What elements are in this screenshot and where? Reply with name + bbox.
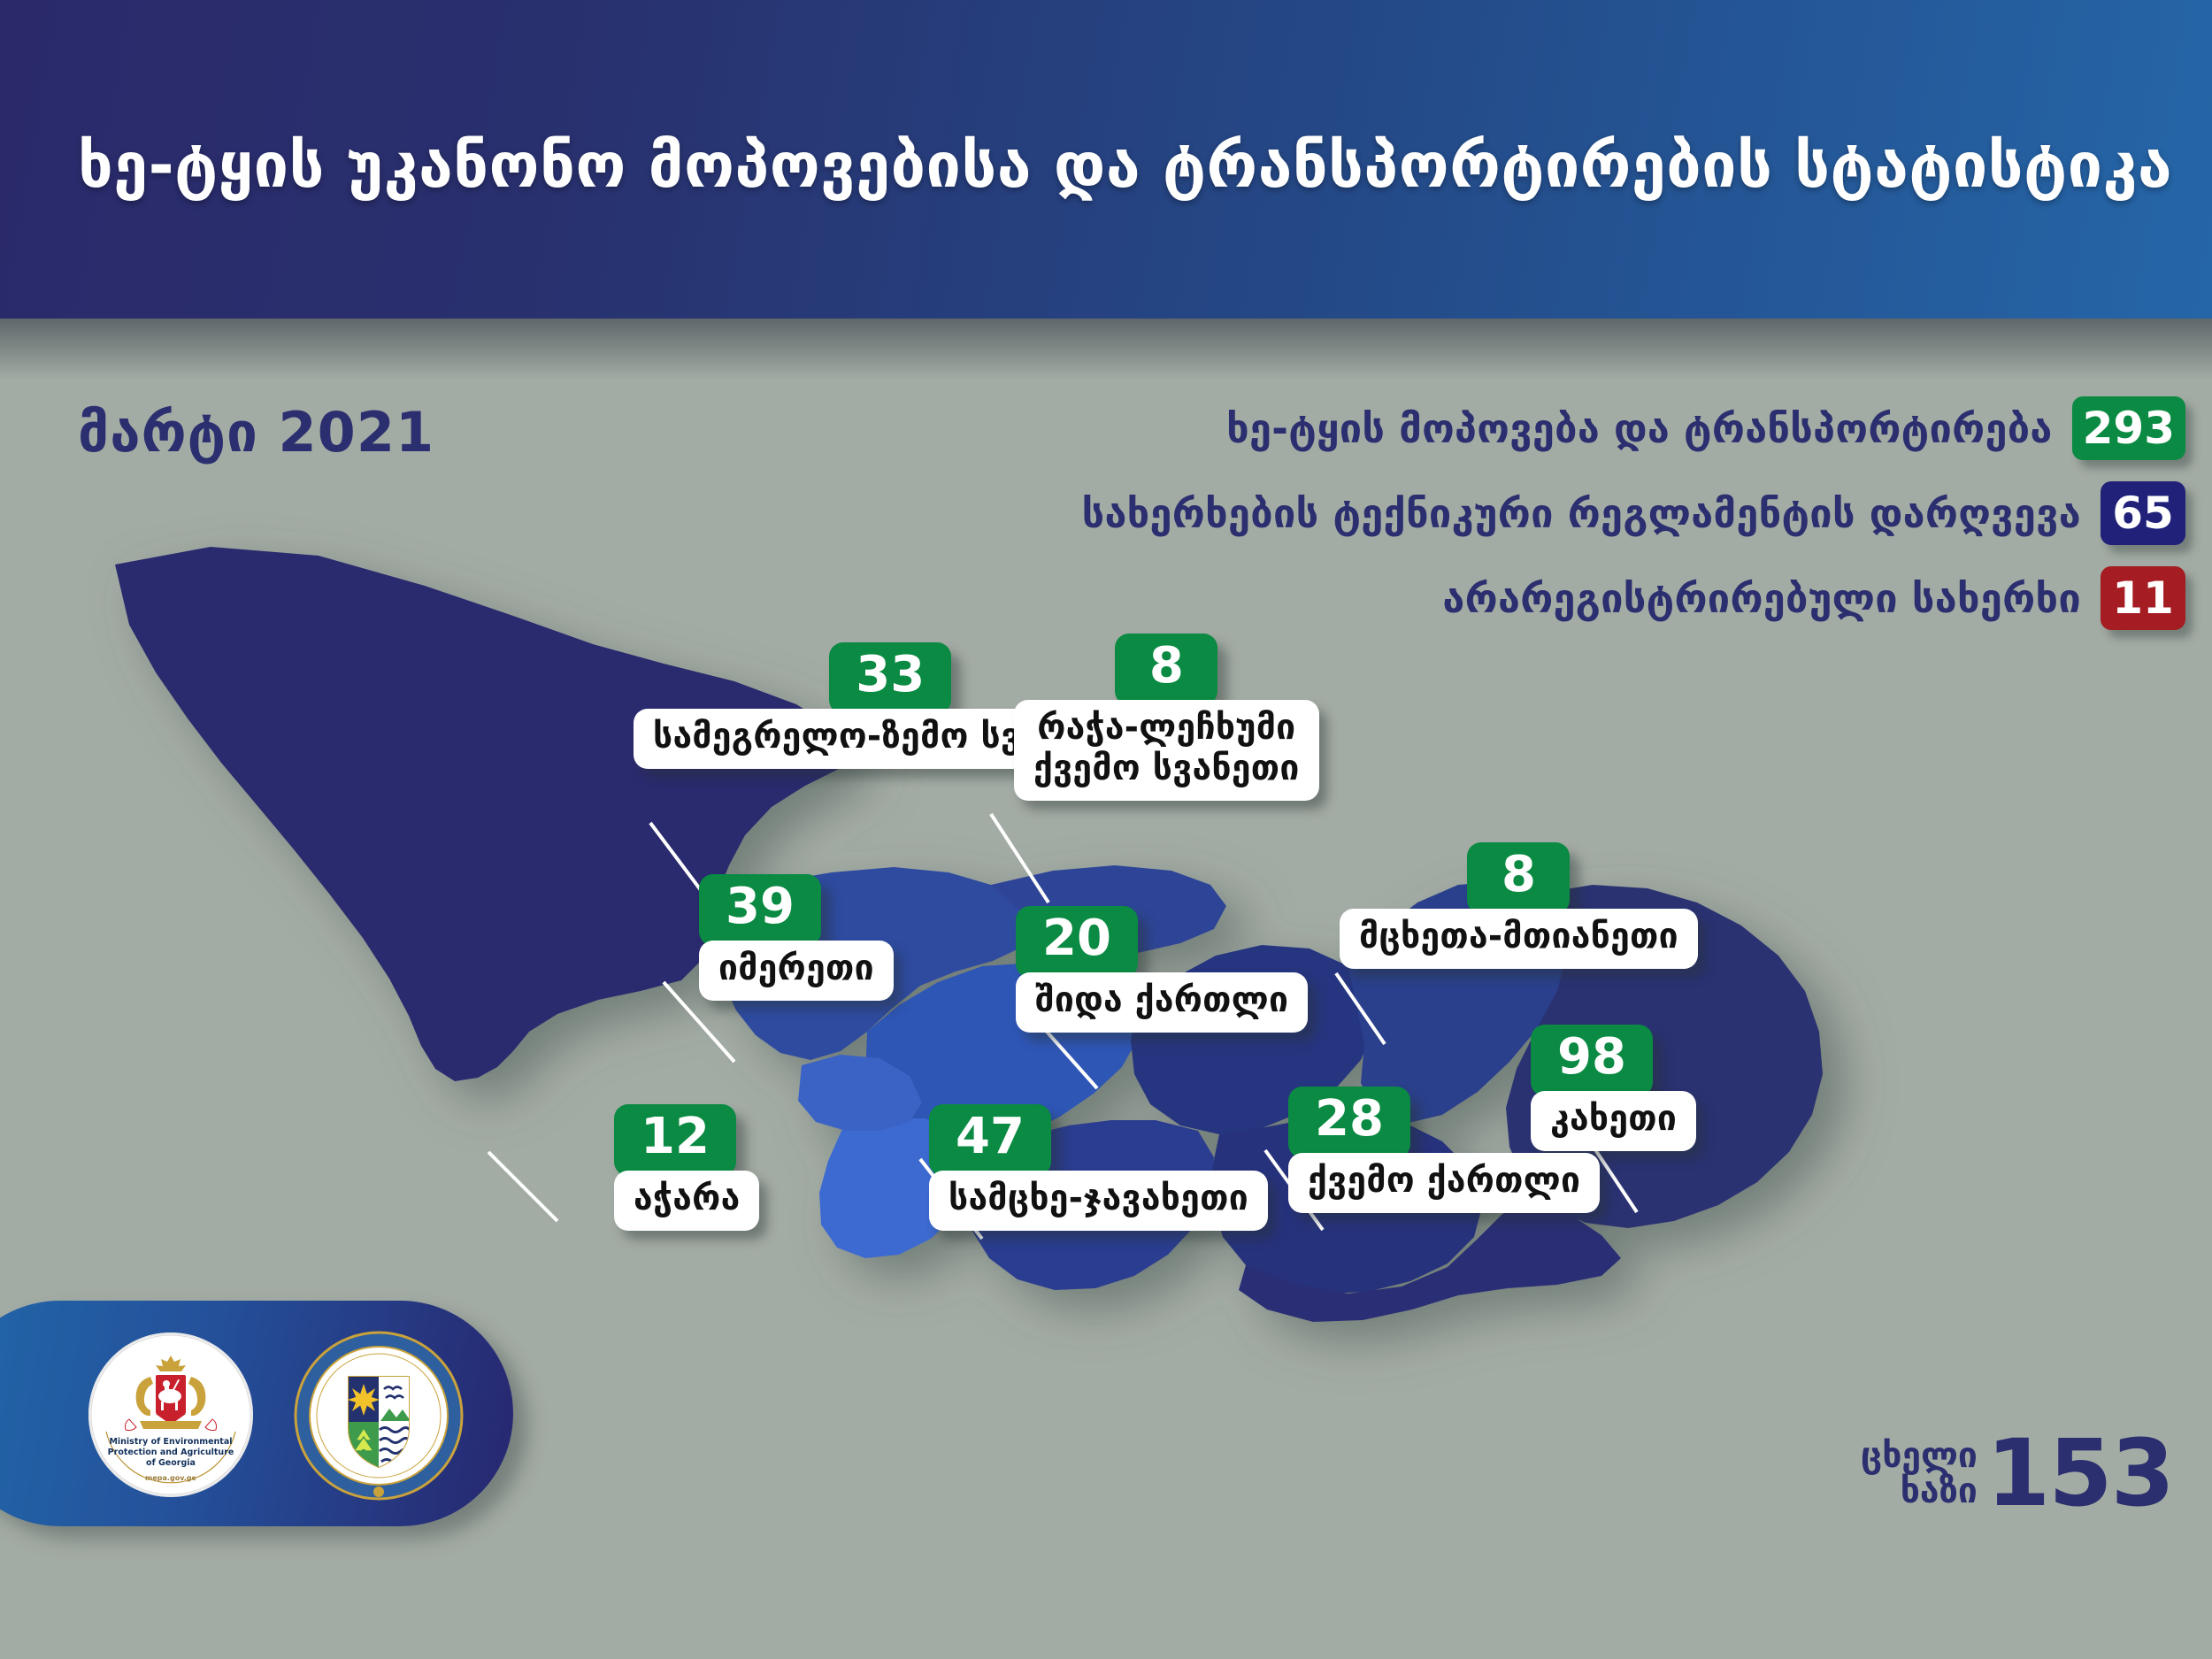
map-pin-label: სამცხე-ჯავახეთი	[929, 1171, 1268, 1231]
ministry-of-environment-logo: Ministry of Environmental Protection and…	[88, 1333, 253, 1497]
map-pin-imereti[interactable]: 39 იმერეთი	[699, 874, 894, 1001]
ministry-name-line3: of Georgia	[88, 1458, 253, 1469]
map-pin-label: იმერეთი	[699, 941, 894, 1001]
map-pin-value: 47	[929, 1104, 1051, 1176]
map-pin-value: 33	[829, 642, 951, 714]
legend-badge-timber: 293	[2072, 396, 2185, 460]
legend-label-timber: ხე-ტყის მოპოვება და ტრანსპორტირება	[1226, 405, 2071, 452]
hotline-label: ცხელი ხაზი	[1861, 1439, 1986, 1509]
ministry-name-line2: Protection and Agriculture	[88, 1448, 253, 1458]
page-title: ხე-ტყის უკანონო მოპოვებისა და ტრანსპორტი…	[78, 129, 2172, 202]
map-pin-racha-lechkhumi[interactable]: 8 რაჭა-ლეჩხუმი ქვემო სვანეთი	[1014, 634, 1319, 801]
sun-icon	[348, 1384, 380, 1416]
legend-badge-sawmill-regulation: 65	[2101, 481, 2185, 545]
map-pin-label: ქვემო ქართლი	[1288, 1153, 1600, 1213]
map-pin-value: 8	[1115, 634, 1217, 705]
map-pin-value: 8	[1467, 842, 1570, 914]
legend-row: ხე-ტყის მოპოვება და ტრანსპორტირება 293	[841, 389, 2185, 467]
map-pin-kvemo-kartli[interactable]: 28 ქვემო ქართლი	[1288, 1087, 1600, 1213]
map-pin-adjara[interactable]: 12 აჭარა	[614, 1104, 759, 1231]
legend-label-sawmill-regulation: სახერხების ტექნიკური რეგლამენტის დარღვევ…	[1082, 490, 2101, 537]
map-pin-mtskheta-mtianeti[interactable]: 8 მცხეთა-მთიანეთი	[1340, 842, 1698, 969]
map-pin-label: შიდა ქართლი	[1016, 972, 1308, 1033]
period-label: მარტი 2021	[78, 400, 434, 465]
map-pin-shida-kartli[interactable]: 20 შიდა ქართლი	[1016, 906, 1308, 1033]
environmental-supervision-logo	[292, 1329, 465, 1502]
ministry-name-line1: Ministry of Environmental	[88, 1437, 253, 1448]
map-pin-label: რაჭა-ლეჩხუმი ქვემო სვანეთი	[1014, 700, 1319, 801]
legend-badge-unregistered-sawmill: 11	[2101, 566, 2185, 630]
ministry-url: mepa.gov.ge	[88, 1474, 253, 1482]
map-pin-samtskhe-javakheti[interactable]: 47 სამცხე-ჯავახეთი	[929, 1104, 1268, 1231]
hotline-number: 153	[1986, 1432, 2173, 1517]
map-pin-value: 39	[699, 874, 821, 946]
hotline: ცხელი ხაზი 153	[1861, 1432, 2173, 1517]
hotline-label-line1: ცხელი	[1861, 1439, 1978, 1474]
hotline-label-line2: ხაზი	[1861, 1474, 1978, 1509]
map-pin-value: 20	[1016, 906, 1138, 978]
logo-bar: Ministry of Environmental Protection and…	[0, 1301, 513, 1526]
map-pin-value: 98	[1531, 1025, 1653, 1096]
map-pin-label: აჭარა	[614, 1171, 759, 1231]
map-pin-value: 28	[1288, 1087, 1410, 1158]
map-pin-value: 12	[614, 1104, 736, 1176]
page-header: ხე-ტყის უკანონო მოპოვებისა და ტრანსპორტი…	[0, 0, 2212, 319]
map-pin-label: მცხეთა-მთიანეთი	[1340, 909, 1698, 969]
